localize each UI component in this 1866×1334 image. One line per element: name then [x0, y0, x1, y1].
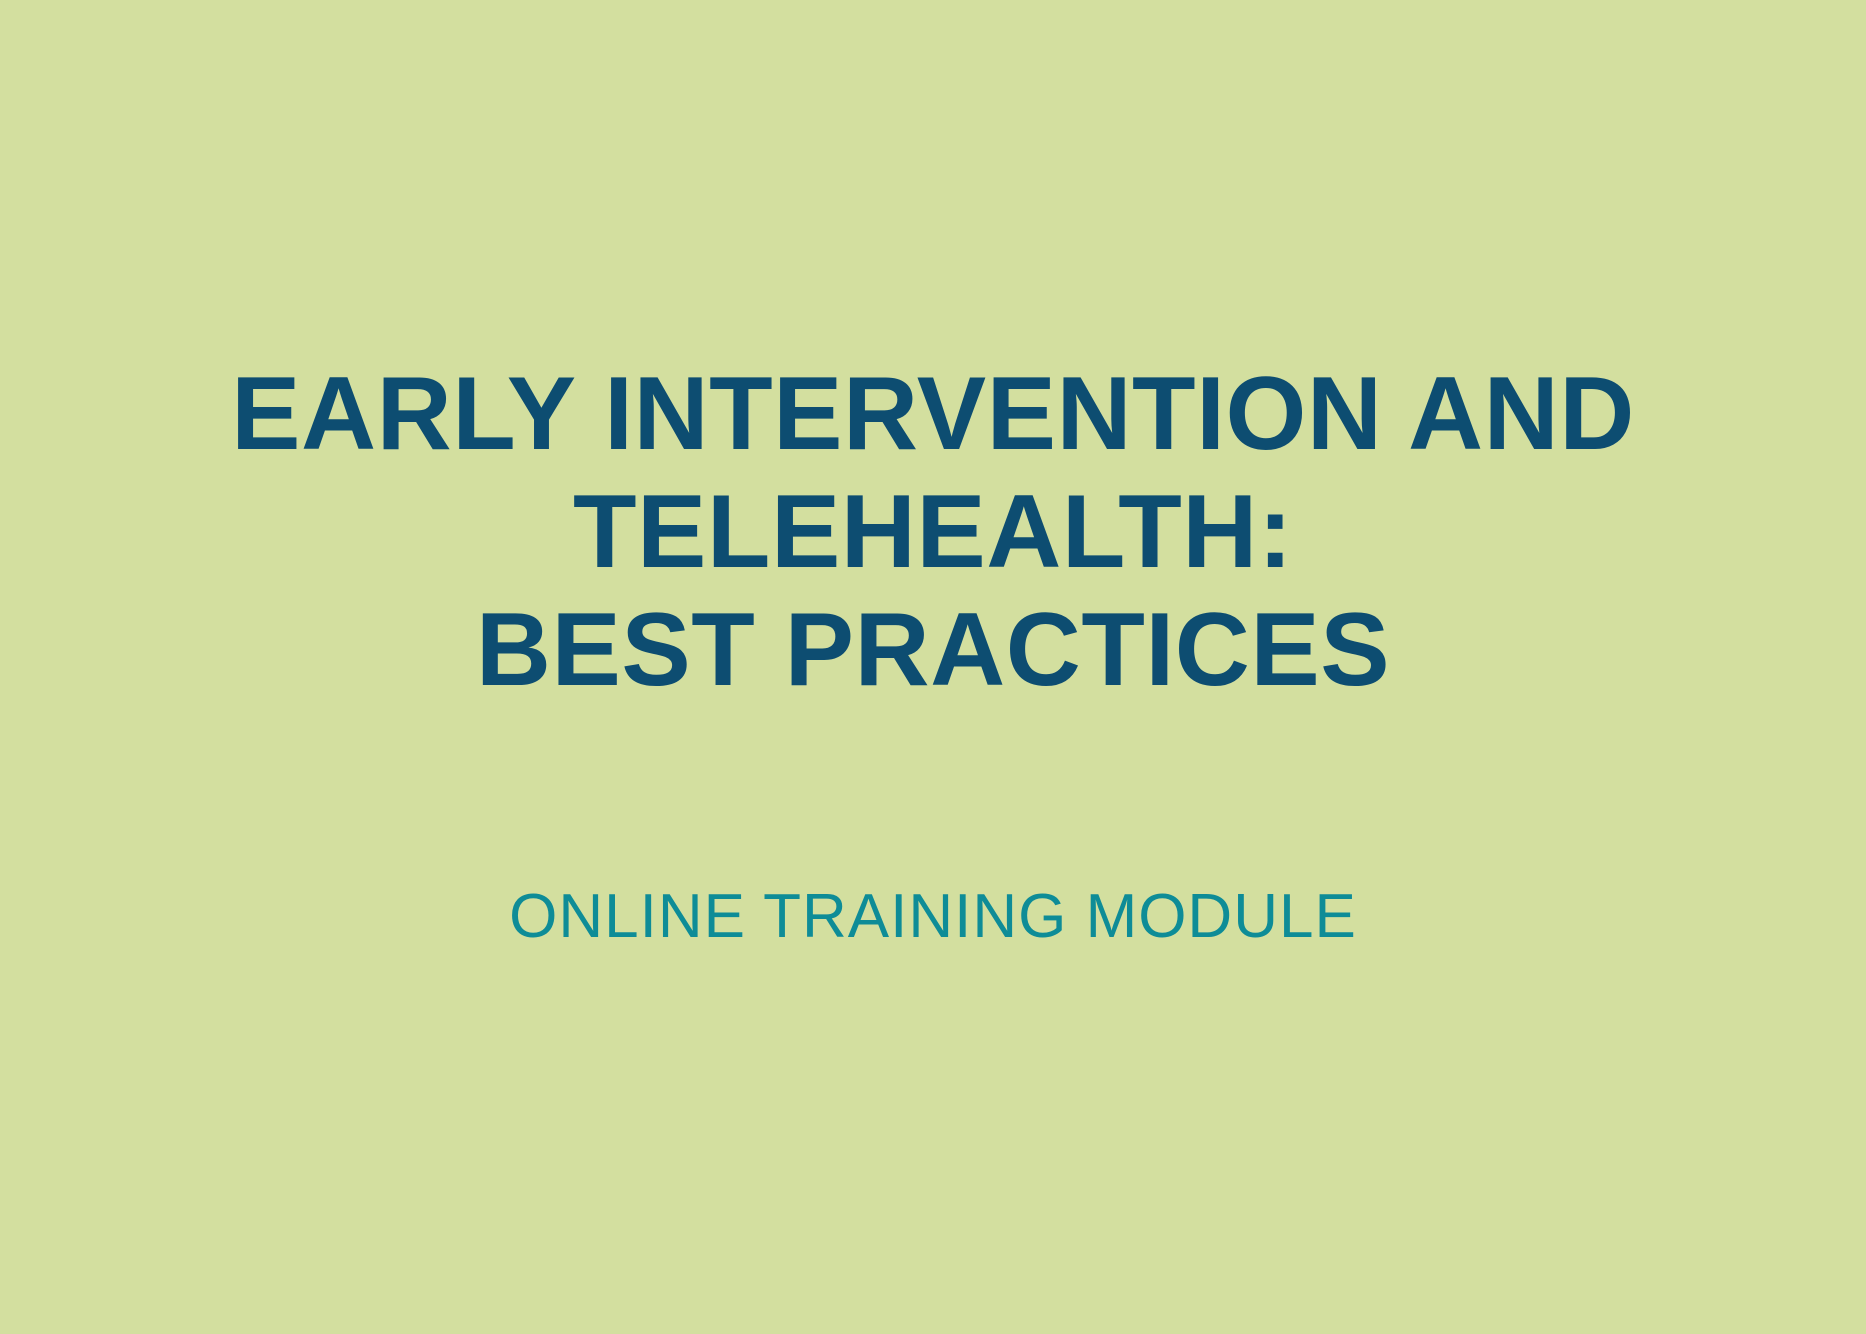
title-line-3: BEST PRACTICES — [0, 591, 1866, 709]
title-line-2: TELEHEALTH: — [0, 473, 1866, 591]
subtitle-text: ONLINE TRAINING MODULE — [0, 880, 1866, 954]
slide-title: EARLY INTERVENTION AND TELEHEALTH: BEST … — [0, 355, 1866, 709]
slide-subtitle: ONLINE TRAINING MODULE — [0, 880, 1866, 954]
title-line-1: EARLY INTERVENTION AND — [0, 355, 1866, 473]
title-slide: EARLY INTERVENTION AND TELEHEALTH: BEST … — [0, 0, 1866, 1334]
